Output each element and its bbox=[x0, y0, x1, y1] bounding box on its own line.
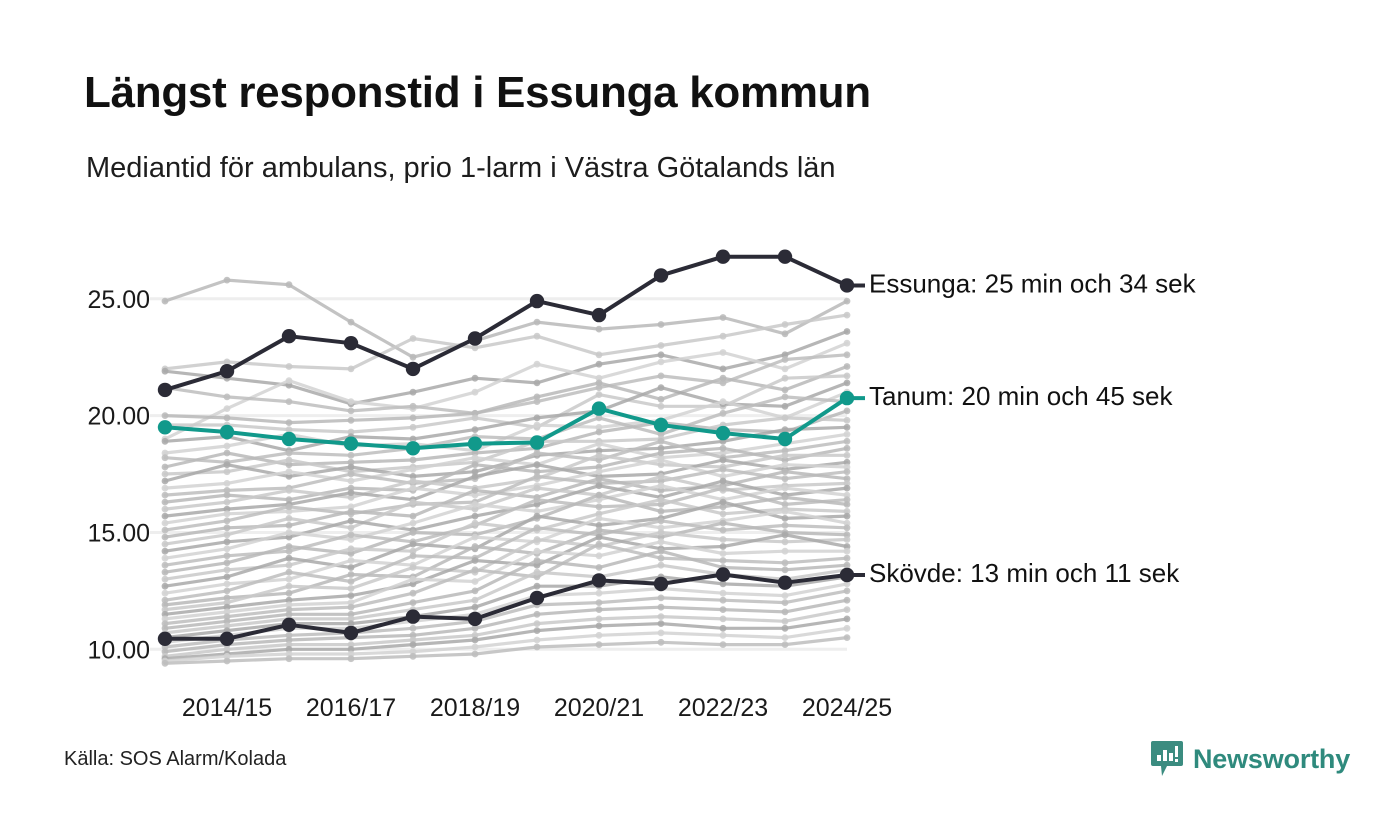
background-point bbox=[348, 585, 355, 592]
background-point bbox=[410, 552, 417, 559]
background-point bbox=[658, 403, 665, 410]
background-point bbox=[844, 408, 851, 415]
background-point bbox=[782, 548, 789, 555]
background-point bbox=[224, 461, 231, 468]
background-point bbox=[534, 557, 541, 564]
background-point bbox=[534, 415, 541, 422]
background-point bbox=[658, 359, 665, 366]
background-point bbox=[348, 408, 355, 415]
background-point bbox=[224, 559, 231, 566]
background-point bbox=[472, 588, 479, 595]
background-point bbox=[286, 522, 293, 529]
background-point bbox=[534, 637, 541, 644]
background-point bbox=[472, 375, 479, 382]
background-point bbox=[410, 354, 417, 361]
series-label-essunga: Essunga: 25 min och 34 sek bbox=[869, 268, 1197, 298]
background-point bbox=[534, 473, 541, 480]
background-point bbox=[224, 581, 231, 588]
background-point bbox=[534, 461, 541, 468]
background-point bbox=[596, 380, 603, 387]
background-point bbox=[348, 531, 355, 538]
background-point bbox=[410, 513, 417, 520]
x-axis-labels: 2014/152016/172018/192020/212022/232024/… bbox=[182, 694, 892, 722]
background-point bbox=[410, 590, 417, 597]
background-point bbox=[162, 527, 169, 534]
background-point bbox=[410, 389, 417, 396]
background-point bbox=[658, 321, 665, 328]
background-point bbox=[286, 281, 293, 288]
y-tick-label: 15.00 bbox=[87, 519, 150, 547]
background-point bbox=[410, 485, 417, 492]
background-point bbox=[596, 623, 603, 630]
background-point bbox=[534, 496, 541, 503]
background-point bbox=[658, 457, 665, 464]
background-point bbox=[844, 363, 851, 370]
series-point-tanum[interactable] bbox=[530, 435, 544, 449]
background-point bbox=[720, 485, 727, 492]
background-point bbox=[658, 639, 665, 646]
chart-root: Längst responstid i Essunga kommun Media… bbox=[0, 0, 1400, 840]
background-point bbox=[596, 429, 603, 436]
background-point bbox=[596, 527, 603, 534]
background-point bbox=[162, 513, 169, 520]
background-point bbox=[596, 606, 603, 613]
background-point bbox=[286, 562, 293, 569]
background-point bbox=[224, 499, 231, 506]
background-point bbox=[596, 616, 603, 623]
background-point bbox=[162, 454, 169, 461]
series-point-essunga[interactable] bbox=[468, 331, 482, 345]
x-tick-label: 2016/17 bbox=[306, 694, 396, 722]
background-point bbox=[782, 415, 789, 422]
background-point bbox=[782, 485, 789, 492]
background-point bbox=[596, 599, 603, 606]
series-point-skövde[interactable] bbox=[778, 576, 792, 590]
series-point-essunga[interactable] bbox=[778, 250, 792, 264]
series-point-essunga[interactable] bbox=[406, 362, 420, 376]
background-point bbox=[410, 335, 417, 342]
background-point bbox=[286, 583, 293, 590]
background-point bbox=[286, 487, 293, 494]
background-point bbox=[410, 424, 417, 431]
background-point bbox=[534, 333, 541, 340]
background-point bbox=[534, 569, 541, 576]
background-point bbox=[844, 634, 851, 641]
background-point bbox=[410, 499, 417, 506]
background-point bbox=[844, 424, 851, 431]
background-point bbox=[658, 620, 665, 627]
x-tick-label: 2024/25 bbox=[802, 694, 892, 722]
background-point bbox=[410, 653, 417, 660]
background-point bbox=[596, 534, 603, 541]
series-point-tanum[interactable] bbox=[158, 420, 172, 434]
background-point bbox=[844, 513, 851, 520]
background-point bbox=[472, 557, 479, 564]
background-point bbox=[286, 468, 293, 475]
background-point bbox=[720, 590, 727, 597]
background-point bbox=[410, 564, 417, 571]
background-point bbox=[162, 492, 169, 499]
background-point bbox=[596, 541, 603, 548]
background-point bbox=[348, 604, 355, 611]
series-point-skövde[interactable] bbox=[592, 573, 606, 587]
series-label-tanum: Tanum: 20 min och 45 sek bbox=[869, 381, 1173, 411]
background-point bbox=[658, 351, 665, 358]
background-point bbox=[472, 520, 479, 527]
background-point bbox=[162, 576, 169, 583]
background-point bbox=[534, 422, 541, 429]
background-point bbox=[596, 641, 603, 648]
background-point bbox=[286, 555, 293, 562]
background-point bbox=[472, 461, 479, 468]
background-point bbox=[348, 517, 355, 524]
background-point bbox=[782, 330, 789, 337]
background-point bbox=[720, 398, 727, 405]
series-point-essunga[interactable] bbox=[220, 364, 234, 378]
background-point bbox=[720, 616, 727, 623]
background-point bbox=[658, 473, 665, 480]
background-point bbox=[844, 606, 851, 613]
background-point bbox=[720, 597, 727, 604]
background-point bbox=[596, 503, 603, 510]
background-point bbox=[658, 373, 665, 380]
background-point bbox=[720, 366, 727, 373]
background-point bbox=[596, 552, 603, 559]
background-point bbox=[224, 574, 231, 581]
background-point bbox=[162, 562, 169, 569]
background-point bbox=[782, 634, 789, 641]
background-point bbox=[596, 632, 603, 639]
background-point bbox=[286, 419, 293, 426]
background-point bbox=[844, 625, 851, 632]
background-point bbox=[534, 513, 541, 520]
series-point-skövde[interactable] bbox=[406, 609, 420, 623]
background-point bbox=[720, 632, 727, 639]
background-point bbox=[410, 457, 417, 464]
y-axis-labels: 10.0015.0020.0025.00 bbox=[87, 286, 150, 665]
background-point bbox=[782, 452, 789, 459]
background-point bbox=[844, 340, 851, 347]
series-point-skövde[interactable] bbox=[716, 567, 730, 581]
background-point bbox=[472, 389, 479, 396]
series-point-skövde[interactable] bbox=[344, 626, 358, 640]
background-point bbox=[472, 597, 479, 604]
background-point bbox=[596, 515, 603, 522]
background-point bbox=[472, 426, 479, 433]
background-point bbox=[162, 464, 169, 471]
background-point bbox=[844, 438, 851, 445]
background-point bbox=[720, 527, 727, 534]
background-point bbox=[720, 457, 727, 464]
background-point bbox=[224, 517, 231, 524]
background-point bbox=[844, 298, 851, 305]
newsworthy-logo: Newsworthy bbox=[1150, 740, 1350, 778]
background-point bbox=[472, 543, 479, 550]
series-point-tanum[interactable] bbox=[716, 426, 730, 440]
series-point-essunga[interactable] bbox=[158, 383, 172, 397]
series-point-essunga[interactable] bbox=[530, 294, 544, 308]
background-point bbox=[596, 475, 603, 482]
background-point bbox=[534, 644, 541, 651]
background-point bbox=[844, 536, 851, 543]
background-point bbox=[534, 627, 541, 634]
background-point bbox=[782, 566, 789, 573]
background-point bbox=[162, 583, 169, 590]
background-point bbox=[162, 569, 169, 576]
background-point bbox=[534, 450, 541, 457]
background-point bbox=[658, 517, 665, 524]
background-point bbox=[844, 312, 851, 319]
background-point bbox=[472, 651, 479, 658]
background-point bbox=[162, 438, 169, 445]
background-point bbox=[658, 630, 665, 637]
background-point bbox=[286, 529, 293, 536]
series-point-essunga[interactable] bbox=[592, 308, 606, 322]
background-point bbox=[596, 492, 603, 499]
background-point bbox=[472, 473, 479, 480]
background-point bbox=[162, 298, 169, 305]
background-point bbox=[348, 366, 355, 373]
background-point bbox=[224, 480, 231, 487]
background-point bbox=[286, 515, 293, 522]
background-point bbox=[162, 412, 169, 419]
series-point-skövde[interactable] bbox=[530, 591, 544, 605]
series-point-tanum[interactable] bbox=[654, 418, 668, 432]
background-point bbox=[534, 583, 541, 590]
x-tick-label: 2022/23 bbox=[678, 694, 768, 722]
background-point bbox=[782, 559, 789, 566]
background-point bbox=[286, 543, 293, 550]
background-point bbox=[162, 555, 169, 562]
background-point bbox=[782, 641, 789, 648]
background-point bbox=[410, 576, 417, 583]
background-point bbox=[844, 431, 851, 438]
series-point-skövde[interactable] bbox=[158, 632, 172, 646]
background-point bbox=[162, 541, 169, 548]
background-point bbox=[782, 475, 789, 482]
background-point bbox=[658, 538, 665, 545]
background-point bbox=[286, 503, 293, 510]
background-point bbox=[782, 494, 789, 501]
background-point bbox=[720, 543, 727, 550]
background-point bbox=[224, 394, 231, 401]
background-point bbox=[348, 524, 355, 531]
newsworthy-bubble-bars-icon bbox=[1150, 740, 1184, 778]
background-point bbox=[224, 492, 231, 499]
background-point bbox=[224, 450, 231, 457]
background-point bbox=[782, 609, 789, 616]
series-point-tanum[interactable] bbox=[778, 432, 792, 446]
background-point bbox=[658, 396, 665, 403]
background-point bbox=[658, 496, 665, 503]
background-point bbox=[410, 415, 417, 422]
background-point bbox=[162, 534, 169, 541]
background-point bbox=[224, 443, 231, 450]
background-point bbox=[720, 550, 727, 557]
background-point bbox=[782, 387, 789, 394]
background-point bbox=[596, 361, 603, 368]
background-point bbox=[844, 452, 851, 459]
background-point bbox=[534, 361, 541, 368]
background-point bbox=[844, 380, 851, 387]
background-point bbox=[720, 510, 727, 517]
background-point bbox=[844, 485, 851, 492]
background-point bbox=[658, 604, 665, 611]
background-point bbox=[782, 599, 789, 606]
background-point bbox=[410, 466, 417, 473]
background-point bbox=[658, 342, 665, 349]
background-point bbox=[224, 405, 231, 412]
y-tick-label: 20.00 bbox=[87, 403, 150, 431]
background-point bbox=[720, 520, 727, 527]
background-point bbox=[286, 398, 293, 405]
background-point bbox=[348, 489, 355, 496]
background-point bbox=[472, 454, 479, 461]
background-point bbox=[472, 637, 479, 644]
background-point bbox=[844, 548, 851, 555]
background-point bbox=[224, 658, 231, 665]
background-point bbox=[596, 326, 603, 333]
background-point bbox=[224, 277, 231, 284]
background-point bbox=[658, 613, 665, 620]
background-point bbox=[162, 499, 169, 506]
background-point bbox=[472, 415, 479, 422]
background-point bbox=[720, 349, 727, 356]
background-point bbox=[658, 508, 665, 515]
background-point bbox=[348, 564, 355, 571]
background-point bbox=[720, 606, 727, 613]
series-point-tanum[interactable] bbox=[220, 425, 234, 439]
series-point-skövde[interactable] bbox=[468, 612, 482, 626]
background-point bbox=[162, 368, 169, 375]
background-point bbox=[658, 562, 665, 569]
series-point-essunga[interactable] bbox=[716, 250, 730, 264]
background-point bbox=[782, 468, 789, 475]
background-point bbox=[286, 363, 293, 370]
series-point-essunga[interactable] bbox=[282, 329, 296, 343]
background-point bbox=[658, 548, 665, 555]
series-point-skövde[interactable] bbox=[220, 632, 234, 646]
background-point bbox=[782, 394, 789, 401]
line-chart-plot: Essunga: 25 min och 34 sekTanum: 20 min … bbox=[0, 0, 1400, 730]
background-point bbox=[410, 529, 417, 536]
series-point-essunga[interactable] bbox=[344, 336, 358, 350]
background-point bbox=[782, 531, 789, 538]
background-point bbox=[224, 510, 231, 517]
series-point-tanum[interactable] bbox=[406, 441, 420, 455]
background-point bbox=[348, 508, 355, 515]
y-tick-label: 25.00 bbox=[87, 286, 150, 314]
background-point bbox=[410, 641, 417, 648]
background-point bbox=[472, 501, 479, 508]
background-point bbox=[472, 534, 479, 541]
background-point bbox=[534, 536, 541, 543]
background-point bbox=[782, 538, 789, 545]
background-point bbox=[596, 452, 603, 459]
background-point bbox=[534, 319, 541, 326]
background-point bbox=[534, 611, 541, 618]
series-point-tanum[interactable] bbox=[282, 432, 296, 446]
background-point bbox=[410, 478, 417, 485]
background-point bbox=[596, 590, 603, 597]
background-point bbox=[286, 450, 293, 457]
background-point bbox=[720, 375, 727, 382]
background-point bbox=[224, 468, 231, 475]
background-point bbox=[410, 625, 417, 632]
background-point bbox=[720, 478, 727, 485]
background-point bbox=[596, 440, 603, 447]
background-point bbox=[782, 592, 789, 599]
background-point bbox=[782, 356, 789, 363]
series-point-essunga[interactable] bbox=[654, 268, 668, 282]
background-point bbox=[720, 333, 727, 340]
background-point bbox=[348, 398, 355, 405]
background-point bbox=[534, 485, 541, 492]
background-point bbox=[596, 391, 603, 398]
background-point bbox=[596, 564, 603, 571]
background-point bbox=[410, 599, 417, 606]
background-point bbox=[348, 655, 355, 662]
series-point-tanum[interactable] bbox=[344, 437, 358, 451]
background-point bbox=[782, 403, 789, 410]
background-point bbox=[658, 529, 665, 536]
background-point bbox=[286, 590, 293, 597]
background-point bbox=[348, 417, 355, 424]
background-point bbox=[844, 468, 851, 475]
background-point bbox=[596, 351, 603, 358]
background-point bbox=[844, 373, 851, 380]
background-point bbox=[348, 319, 355, 326]
background-point bbox=[658, 384, 665, 391]
series-point-skövde[interactable] bbox=[654, 577, 668, 591]
background-point bbox=[844, 445, 851, 452]
background-point bbox=[162, 590, 169, 597]
series-point-skövde[interactable] bbox=[282, 618, 296, 632]
background-point bbox=[472, 644, 479, 651]
background-point bbox=[286, 569, 293, 576]
background-point bbox=[844, 351, 851, 358]
background-point bbox=[658, 595, 665, 602]
background-point bbox=[658, 482, 665, 489]
background-point bbox=[348, 452, 355, 459]
background-point bbox=[348, 592, 355, 599]
background-point bbox=[658, 450, 665, 457]
background-point bbox=[472, 513, 479, 520]
background-point bbox=[348, 571, 355, 578]
series-point-tanum[interactable] bbox=[592, 401, 606, 415]
series-point-tanum[interactable] bbox=[468, 437, 482, 451]
background-point bbox=[224, 566, 231, 573]
background-point bbox=[472, 566, 479, 573]
background-point bbox=[844, 328, 851, 335]
background-point bbox=[782, 618, 789, 625]
background-point bbox=[534, 380, 541, 387]
x-tick-label: 2014/15 bbox=[182, 694, 272, 722]
background-point bbox=[534, 548, 541, 555]
background-point bbox=[782, 366, 789, 373]
background-point bbox=[410, 520, 417, 527]
background-point bbox=[782, 461, 789, 468]
background-point bbox=[658, 438, 665, 445]
background-point bbox=[224, 415, 231, 422]
background-point bbox=[720, 536, 727, 543]
background-point bbox=[720, 445, 727, 452]
background-point bbox=[224, 531, 231, 538]
background-point bbox=[162, 471, 169, 478]
background-point bbox=[286, 576, 293, 583]
background-point bbox=[286, 377, 293, 384]
background-point bbox=[720, 466, 727, 473]
